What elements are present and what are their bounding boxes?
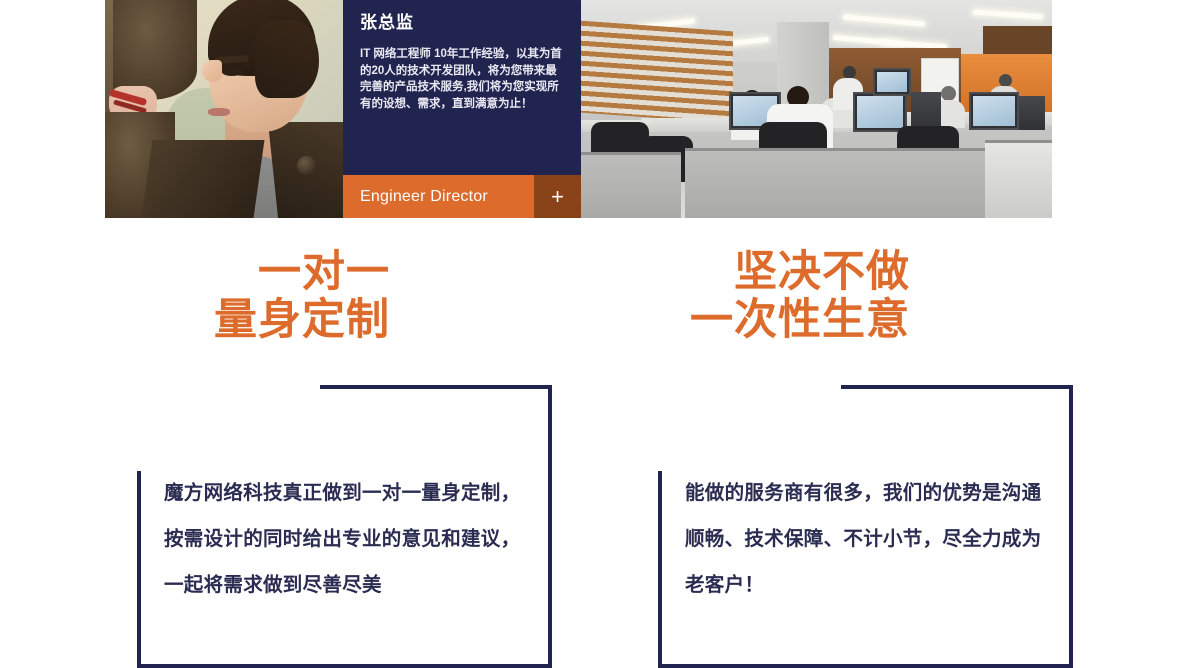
box-border-left <box>137 471 141 668</box>
box-border-right <box>548 385 552 668</box>
portrait-eye <box>222 68 242 76</box>
expand-plus-icon[interactable]: + <box>534 175 581 218</box>
office-workspace-photo <box>581 0 1052 218</box>
box-border-left <box>658 471 662 668</box>
office-computer-tower <box>1019 96 1045 130</box>
role-title: Engineer Director <box>343 175 534 218</box>
portrait-coat-button <box>297 156 316 175</box>
person-bio: IT 网络工程师 10年工作经验，以其为首的20人的技术开发团队，将为您带来最完… <box>360 46 565 112</box>
box-border-top <box>320 385 552 389</box>
office-cubicle-partition <box>685 148 985 218</box>
profile-info-panel: 张总监 IT 网络工程师 10年工作经验，以其为首的20人的技术开发团队，将为您… <box>343 0 581 218</box>
office-wood-slat-partition <box>581 21 733 124</box>
office-cubicle-partition <box>581 152 681 218</box>
office-monitor <box>853 92 907 132</box>
headline-line-2: 量身定制 <box>214 296 390 344</box>
portrait-photo <box>105 0 343 218</box>
office-cubicle-partition <box>985 140 1052 218</box>
box-border-top <box>841 385 1073 389</box>
box-border-right <box>1069 385 1073 668</box>
office-person-head <box>941 86 956 101</box>
headline-line-1: 一对一 <box>258 248 390 296</box>
headline-line-1: 坚决不做 <box>734 248 910 296</box>
office-monitor <box>873 68 911 96</box>
person-name: 张总监 <box>360 12 565 34</box>
portrait-foreground-arm <box>113 0 197 100</box>
feature-column-left: 一对一 量身定制 魔方网络科技真正做到一对一量身定制，按需设计的同时给出专业的意… <box>100 248 560 344</box>
portrait-hair-side <box>255 20 319 98</box>
office-monitor <box>969 92 1019 130</box>
box-border-bottom <box>658 664 1073 668</box>
role-bar: Engineer Director + <box>343 175 581 218</box>
feature-column-right: 坚决不做 一次性生意 能做的服务商有很多，我们的优势是沟通顺畅、技术保障、不计小… <box>620 248 1080 344</box>
headline-line-2: 一次性生意 <box>690 296 910 344</box>
portrait-nose <box>202 60 222 82</box>
portrait-lip <box>208 108 230 116</box>
callout-body-left: 魔方网络科技真正做到一对一量身定制，按需设计的同时给出专业的意见和建议，一起将需… <box>164 470 536 608</box>
box-border-bottom <box>137 664 552 668</box>
portrait-coat-left <box>142 140 265 218</box>
feature-headline-left: 一对一 量身定制 <box>100 248 390 344</box>
callout-body-right: 能做的服务商有很多，我们的优势是沟通顺畅、技术保障、不计小节，尽全力成为老客户！ <box>685 470 1057 608</box>
profile-banner: 张总监 IT 网络工程师 10年工作经验，以其为首的20人的技术开发团队，将为您… <box>105 0 1052 218</box>
feature-headline-right: 坚决不做 一次性生意 <box>620 248 910 344</box>
